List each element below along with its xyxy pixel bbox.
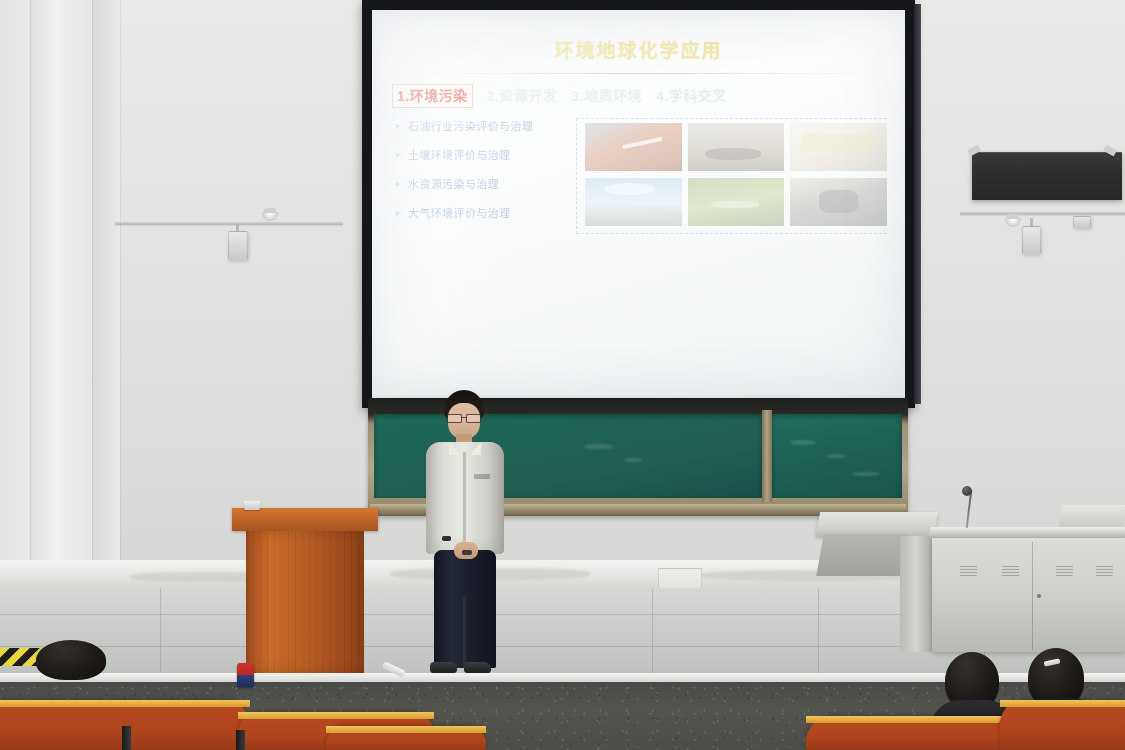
projection-screen-surface: 环境地球化学应用 1.环境污染 2.资源开发 3.地质环境 4.学科交叉 ➤ 石…	[372, 10, 905, 398]
presentation-slide: 环境地球化学应用 1.环境污染 2.资源开发 3.地质环境 4.学科交叉 ➤ 石…	[390, 24, 887, 274]
bullet-item: ➤ 水资源污染与治理	[394, 176, 576, 192]
presenter	[418, 390, 514, 680]
slide-tab-2[interactable]: 2.资源开发	[487, 86, 558, 106]
presenter-shoe	[464, 662, 491, 673]
slide-title: 环境地球化学应用	[390, 36, 887, 63]
wall-seam	[92, 0, 93, 620]
blackboard-divider	[762, 410, 772, 502]
bullet-text: 土壤环境评价与治理	[408, 147, 511, 163]
slide-tab-3[interactable]: 3.地质环境	[571, 86, 642, 106]
slide-thumbnail-grid	[576, 118, 887, 234]
wall-mount-rail	[115, 222, 343, 225]
wall-speaker-icon	[228, 231, 248, 260]
thermos-bottle[interactable]	[237, 663, 254, 687]
slide-thumbnail	[688, 123, 785, 171]
podium-top	[232, 508, 378, 531]
podium-body	[246, 531, 364, 673]
bullet-arrow-icon: ➤	[394, 150, 402, 161]
title-divider	[396, 73, 881, 74]
glasses-icon	[447, 414, 481, 421]
slide-tab-4[interactable]: 4.学科交叉	[656, 86, 727, 106]
blackboard-panel-right	[772, 414, 902, 498]
wall-speaker-icon	[1073, 216, 1091, 228]
wall-pillar	[30, 0, 92, 620]
desk-leg	[122, 726, 131, 750]
projection-screen[interactable]: 环境地球化学应用 1.环境污染 2.资源开发 3.地质环境 4.学科交叉 ➤ 石…	[362, 0, 915, 408]
bullet-text: 水资源污染与治理	[408, 176, 499, 192]
presentation-clicker[interactable]	[462, 550, 472, 555]
bullet-arrow-icon: ➤	[394, 179, 402, 190]
slide-thumbnail	[585, 123, 682, 171]
podium[interactable]	[232, 508, 378, 673]
console-leg	[900, 536, 932, 652]
presenter-collar	[449, 442, 460, 455]
presenter-collar	[470, 442, 481, 455]
presenter-watch	[442, 536, 451, 541]
console-shelf-underside	[816, 534, 909, 576]
cabinet-door-seam	[1032, 542, 1033, 650]
slide-body: ➤ 石油行业污染评价与治理 ➤ 土壤环境评价与治理 ➤ 水资源污染与治理 ➤	[390, 118, 887, 234]
slide-thumbnail	[585, 178, 682, 226]
slide-tab-row: 1.环境污染 2.资源开发 3.地质环境 4.学科交叉	[392, 84, 887, 108]
console-side-shelf	[816, 512, 938, 536]
bullet-arrow-icon: ➤	[394, 208, 402, 219]
bullet-item: ➤ 土壤环境评价与治理	[394, 147, 576, 163]
console-right-shelf	[1058, 505, 1125, 529]
bullet-arrow-icon: ➤	[394, 121, 402, 132]
lecture-hall-photo: 环境地球化学应用 1.环境污染 2.资源开发 3.地质环境 4.学科交叉 ➤ 石…	[0, 0, 1125, 750]
wall-seam	[30, 0, 31, 620]
wall-mount-rail	[960, 212, 1125, 215]
wall-seam	[120, 0, 121, 620]
wall-pillar-secondary	[92, 0, 120, 618]
podium-small-object	[244, 501, 260, 510]
presenter-shirt-logo	[474, 474, 490, 479]
bullet-item: ➤ 石油行业污染评价与治理	[394, 118, 576, 134]
slide-bullet-list: ➤ 石油行业污染评价与治理 ➤ 土壤环境评价与治理 ➤ 水资源污染与治理 ➤	[390, 118, 576, 234]
bullet-text: 大气环境评价与治理	[408, 205, 511, 221]
bullet-item: ➤ 大气环境评价与治理	[394, 205, 576, 221]
av-console-cabinet[interactable]	[932, 538, 1125, 652]
wall-speaker-icon	[1022, 226, 1041, 254]
student-head	[36, 640, 106, 680]
slide-tab-1[interactable]: 1.环境污染	[392, 84, 473, 108]
bullet-text: 石油行业污染评价与治理	[408, 118, 533, 134]
desk[interactable]	[326, 726, 486, 750]
presenter-shirt-placket	[463, 452, 466, 550]
dark-display-panel	[972, 152, 1122, 200]
slide-thumbnail	[790, 178, 887, 226]
desk-leg	[236, 730, 245, 750]
slide-thumbnail	[688, 178, 785, 226]
desk[interactable]	[1000, 700, 1125, 750]
microphone-icon	[962, 486, 972, 496]
slide-thumbnail	[790, 123, 887, 171]
presenter-shoe	[430, 662, 457, 673]
